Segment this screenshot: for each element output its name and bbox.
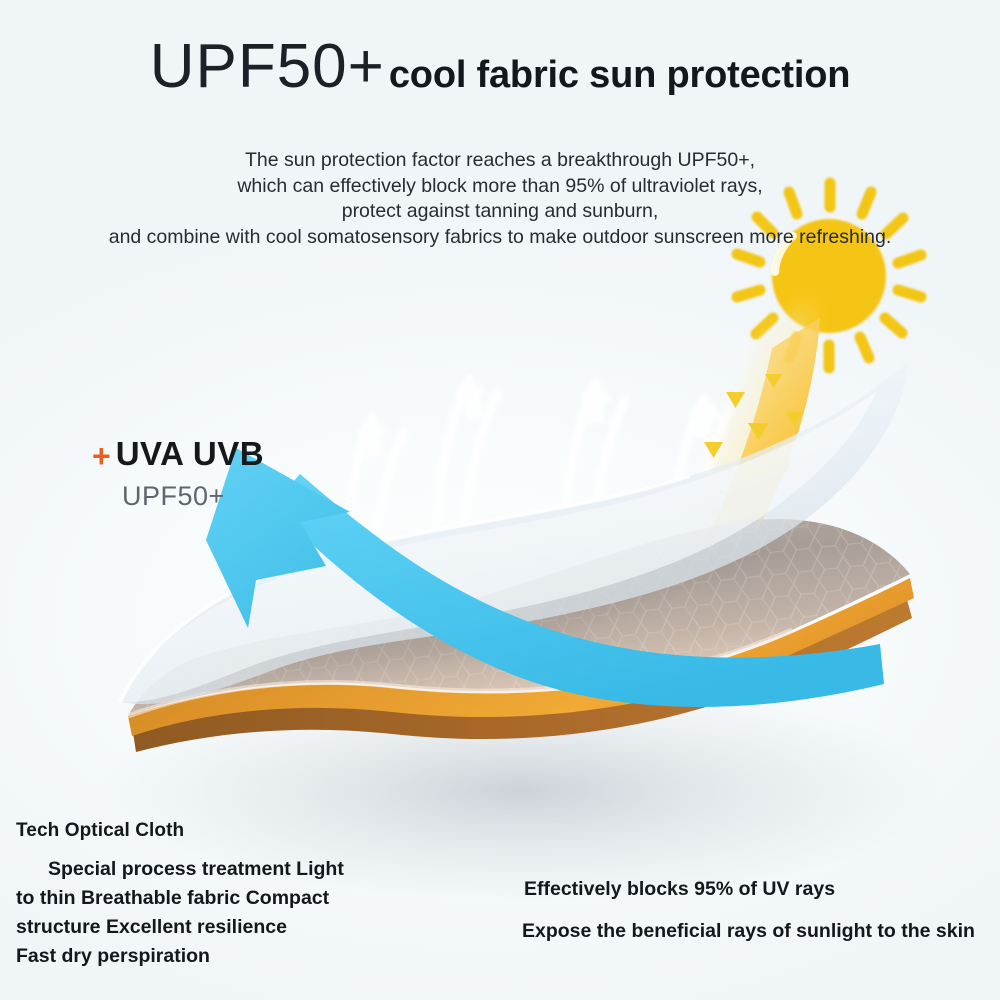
uv-label: +UVA UVB UPF50+ [92, 437, 264, 512]
infographic-canvas: UPF50+cool fabric sun protection The sun… [0, 0, 1000, 1000]
caption-left-line-2: to thin Breathable fabric Compact [16, 884, 344, 913]
title-tagline: cool fabric sun protection [389, 54, 850, 96]
description-block: The sun protection factor reaches a brea… [0, 148, 1000, 250]
uv-label-main: +UVA UVB [92, 437, 264, 472]
uv-label-title: UVA UVB [116, 435, 264, 472]
caption-tech-title: Tech Optical Cloth [16, 820, 184, 842]
description-line-2: which can effectively block more than 95… [0, 174, 1000, 200]
page-title: UPF50+cool fabric sun protection [0, 36, 1000, 98]
description-line-1: The sun protection factor reaches a brea… [0, 148, 1000, 174]
plus-icon: + [92, 438, 111, 474]
caption-left-block: Special process treatment Light to thin … [16, 855, 344, 971]
uv-label-subtitle: UPF50+ [122, 481, 264, 512]
title-upf: UPF50+ [150, 32, 385, 101]
caption-left-line-4: Fast dry perspiration [16, 942, 344, 971]
description-line-4: and combine with cool somatosensory fabr… [0, 225, 1000, 251]
caption-left-line-3: structure Excellent resilience [16, 913, 344, 942]
caption-right-block: Effectively blocks 95% of UV rays Expose… [524, 868, 975, 952]
caption-right-line-1: Effectively blocks 95% of UV rays [524, 868, 975, 910]
caption-tech-title-text: Tech Optical Cloth [16, 820, 184, 842]
caption-left-line-1: Special process treatment Light [16, 855, 344, 884]
caption-right-line-2: Expose the beneficial rays of sunlight t… [522, 910, 975, 952]
description-line-3: protect against tanning and sunburn, [0, 199, 1000, 225]
